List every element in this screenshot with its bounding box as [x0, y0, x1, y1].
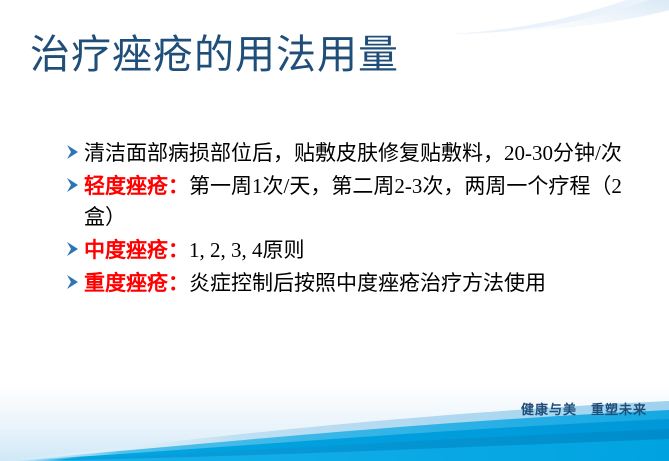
top-right-arc-decoration — [429, 0, 669, 34]
list-item-text: 1, 2, 3, 4原则 — [189, 238, 305, 262]
list-item-text: 清洁面部病损部位后，贴敷皮肤修复贴敷料，20-30分钟/次 — [84, 141, 622, 165]
list-item: 轻度痤疮：第一周1次/天，第二周2-3次，两周一个疗程（2盒） — [66, 171, 626, 233]
list-item-label: 重度痤疮： — [84, 271, 189, 295]
arrow-bullet-icon — [66, 273, 79, 289]
list-item: 清洁面部病损部位后，贴敷皮肤修复贴敷料，20-30分钟/次 — [66, 138, 626, 169]
list-item-label: 中度痤疮： — [84, 238, 189, 262]
page-title: 治疗痤疮的用法用量 — [30, 32, 399, 78]
slide: 治疗痤疮的用法用量 清洁面部病损部位后，贴敷皮肤修复贴敷料，20-30分钟/次 … — [0, 0, 669, 461]
list-item: 重度痤疮：炎症控制后按照中度痤疮治疗方法使用 — [66, 268, 626, 299]
footer-wave-band: 健康与美 重塑未来 — [0, 385, 669, 461]
bullet-list: 清洁面部病损部位后，贴敷皮肤修复贴敷料，20-30分钟/次 轻度痤疮：第一周1次… — [66, 138, 626, 301]
arrow-bullet-icon — [66, 240, 79, 256]
arrow-bullet-icon — [66, 143, 79, 159]
list-item-text: 炎症控制后按照中度痤疮治疗方法使用 — [189, 271, 546, 295]
list-item: 中度痤疮：1, 2, 3, 4原则 — [66, 235, 626, 266]
footer-tagline: 健康与美 重塑未来 — [521, 399, 647, 418]
list-item-label: 轻度痤疮： — [84, 174, 189, 198]
arrow-bullet-icon — [66, 176, 79, 192]
